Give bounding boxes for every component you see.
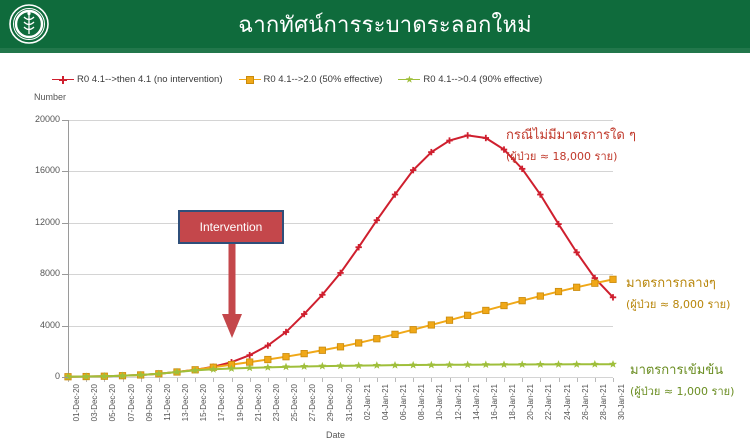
- x-axis-tick-label: 27-Dec-20: [308, 384, 317, 421]
- x-axis-tick-label: 01-Dec-20: [72, 384, 81, 421]
- x-axis-tick: [504, 378, 505, 382]
- x-axis-tick: [141, 378, 142, 382]
- x-axis-tick-label: 29-Dec-20: [326, 384, 335, 421]
- x-axis-tick-label: 31-Dec-20: [345, 384, 354, 421]
- x-axis-tick: [431, 378, 432, 382]
- x-axis-tick-label: 08-Jan-21: [417, 384, 426, 420]
- x-axis-tick-label: 17-Dec-20: [217, 384, 226, 421]
- x-axis-tick-label: 06-Jan-21: [399, 384, 408, 420]
- y-axis-tick: [62, 223, 68, 224]
- x-axis-tick: [540, 378, 541, 382]
- x-axis-tick: [104, 378, 105, 382]
- x-axis-tick-label: 18-Jan-21: [508, 384, 517, 420]
- annotation-no-intervention-line2: (ผู้ป่วย ≈ 18,000 ราย): [506, 147, 636, 165]
- x-axis-tick: [486, 378, 487, 382]
- x-axis-tick: [450, 378, 451, 382]
- x-axis-tick-label: 16-Jan-21: [490, 384, 499, 420]
- x-axis-tick: [232, 378, 233, 382]
- x-axis-tick-label: 30-Jan-21: [617, 384, 626, 420]
- annotation-no-intervention: กรณีไม่มีมาตรการใด ๆ (ผู้ป่วย ≈ 18,000 ร…: [506, 124, 636, 165]
- x-axis-tick: [250, 378, 251, 382]
- x-axis-tick: [159, 378, 160, 382]
- x-axis-tick: [613, 378, 614, 382]
- annotation-moderate-line2: (ผู้ป่วย ≈ 8,000 ราย): [626, 295, 730, 313]
- x-axis-tick-label: 21-Dec-20: [254, 384, 263, 421]
- x-axis-tick: [213, 378, 214, 382]
- y-axis-tick: [62, 171, 68, 172]
- x-axis-tick-label: 13-Dec-20: [181, 384, 190, 421]
- x-axis-tick: [286, 378, 287, 382]
- x-axis-tick-label: 11-Dec-20: [163, 384, 172, 421]
- x-axis-tick-label: 23-Dec-20: [272, 384, 281, 421]
- x-axis-tick-label: 05-Dec-20: [108, 384, 117, 421]
- x-axis-tick: [395, 378, 396, 382]
- x-axis-tick: [468, 378, 469, 382]
- y-axis-tick: [62, 274, 68, 275]
- x-axis-tick: [177, 378, 178, 382]
- x-axis-tick: [595, 378, 596, 382]
- y-axis-tick: [62, 120, 68, 121]
- x-axis-tick: [268, 378, 269, 382]
- x-axis-tick-label: 20-Jan-21: [526, 384, 535, 420]
- x-axis-tick: [559, 378, 560, 382]
- x-axis-tick: [377, 378, 378, 382]
- epidemic-scenario-chart: Number Date 040008000120001600020000 01-…: [0, 0, 750, 445]
- x-axis-tick: [322, 378, 323, 382]
- x-axis-tick-label: 24-Jan-21: [563, 384, 572, 420]
- annotation-moderate-line1: มาตรการกลางๆ: [626, 272, 730, 293]
- x-axis-tick-label: 10-Jan-21: [435, 384, 444, 420]
- annotation-no-intervention-line1: กรณีไม่มีมาตรการใด ๆ: [506, 124, 636, 145]
- x-axis-tick-label: 28-Jan-21: [599, 384, 608, 420]
- y-axis-tick: [62, 377, 68, 378]
- x-axis-tick-label: 12-Jan-21: [454, 384, 463, 420]
- x-axis-tick-label: 04-Jan-21: [381, 384, 390, 420]
- annotation-strict-line1: มาตรการเข้มข้น: [630, 359, 734, 380]
- annotation-moderate-measures: มาตรการกลางๆ (ผู้ป่วย ≈ 8,000 ราย): [626, 272, 730, 313]
- x-axis-tick: [195, 378, 196, 382]
- x-axis-tick-label: 02-Jan-21: [363, 384, 372, 420]
- x-axis-tick-label: 03-Dec-20: [90, 384, 99, 421]
- annotation-strict-line2: (ผู้ป่วย ≈ 1,000 ราย): [630, 382, 734, 400]
- intervention-arrow-icon: [220, 244, 244, 340]
- x-axis-tick: [522, 378, 523, 382]
- x-axis-tick: [123, 378, 124, 382]
- x-axis-tick-label: 09-Dec-20: [145, 384, 154, 421]
- x-axis-tick: [68, 378, 69, 382]
- x-axis-tick: [577, 378, 578, 382]
- x-axis-tick-label: 25-Dec-20: [290, 384, 299, 421]
- intervention-box: Intervention: [178, 210, 284, 244]
- x-axis-tick: [86, 378, 87, 382]
- x-axis-tick: [304, 378, 305, 382]
- x-axis-tick: [413, 378, 414, 382]
- intervention-label: Intervention: [200, 220, 263, 234]
- x-axis-tick-label: 22-Jan-21: [544, 384, 553, 420]
- x-axis-tick-label: 14-Jan-21: [472, 384, 481, 420]
- x-axis-tick-label: 19-Dec-20: [236, 384, 245, 421]
- x-axis-tick: [341, 378, 342, 382]
- x-axis-tick-label: 26-Jan-21: [581, 384, 590, 420]
- y-axis-tick: [62, 326, 68, 327]
- x-axis-tick: [359, 378, 360, 382]
- x-axis-tick-label: 07-Dec-20: [127, 384, 136, 421]
- annotation-strict-measures: มาตรการเข้มข้น (ผู้ป่วย ≈ 1,000 ราย): [630, 359, 734, 400]
- x-axis-tick-label: 15-Dec-20: [199, 384, 208, 421]
